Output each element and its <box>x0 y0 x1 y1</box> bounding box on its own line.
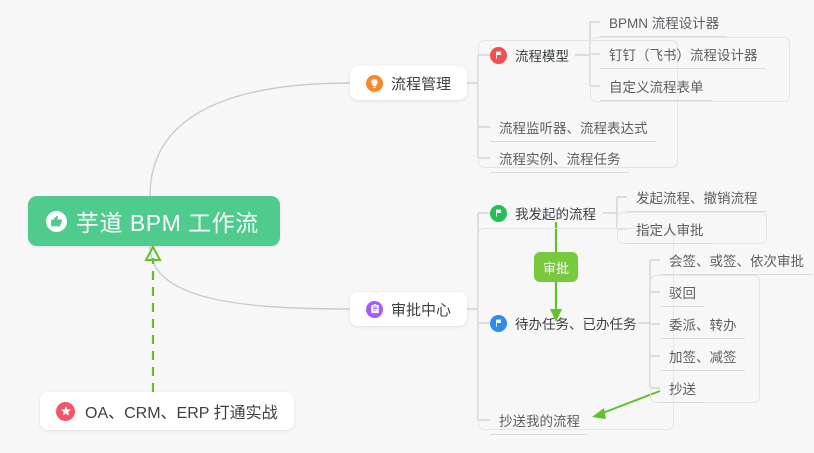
link-root-approval-center <box>150 246 350 309</box>
node-bpmn-designer[interactable]: BPMN 流程设计器 <box>600 8 727 37</box>
mindmap-canvas: 芋道 BPM 工作流 流程管理 流程模型 BPMN 流程设计器 钉钉（飞书）流程… <box>0 0 814 453</box>
node-delegate-label: 委派、转办 <box>669 314 737 334</box>
flag-icon-green <box>490 205 507 222</box>
bottom-note-label: OA、CRM、ERP 打通实战 <box>85 399 278 423</box>
node-todo-done[interactable]: 待办任务、已办任务 <box>490 309 637 337</box>
approval-tag[interactable]: 审批 <box>534 252 578 282</box>
approval-tag-label: 审批 <box>543 258 569 277</box>
arrow-bottom-note-head <box>146 247 160 260</box>
node-process-listener[interactable]: 流程监听器、流程表达式 <box>490 113 656 142</box>
node-start-cancel-label: 发起流程、撤销流程 <box>636 187 758 207</box>
node-delegate[interactable]: 委派、转办 <box>660 310 745 339</box>
node-cc-to-me[interactable]: 抄送我的流程 <box>490 406 588 435</box>
star-icon <box>56 402 75 421</box>
link-root-process-management <box>150 83 350 196</box>
node-custom-form-label: 自定义流程表单 <box>609 76 704 96</box>
root-label: 芋道 BPM 工作流 <box>76 204 259 238</box>
flag-icon-red <box>490 47 507 64</box>
node-assignee-approval-label: 指定人审批 <box>636 219 704 239</box>
branch-approval-center-label: 审批中心 <box>391 299 451 320</box>
root-node[interactable]: 芋道 BPM 工作流 <box>28 196 280 246</box>
node-process-model[interactable]: 流程模型 <box>490 41 569 69</box>
node-my-started[interactable]: 我发起的流程 <box>490 199 596 227</box>
bottom-note[interactable]: OA、CRM、ERP 打通实战 <box>40 392 294 430</box>
node-countersign[interactable]: 会签、或签、依次审批 <box>660 246 812 275</box>
node-todo-done-label: 待办任务、已办任务 <box>515 313 637 333</box>
node-assignee-approval[interactable]: 指定人审批 <box>627 215 712 244</box>
node-process-listener-label: 流程监听器、流程表达式 <box>499 117 648 137</box>
node-reject-label: 驳回 <box>669 282 696 302</box>
flag-icon-blue <box>490 315 507 332</box>
node-cc-to-me-label: 抄送我的流程 <box>499 410 580 430</box>
node-reject[interactable]: 驳回 <box>660 278 704 307</box>
node-countersign-label: 会签、或签、依次审批 <box>669 250 804 270</box>
node-cc-label: 抄送 <box>669 378 696 398</box>
branch-approval-center[interactable]: 审批中心 <box>350 292 467 326</box>
thumbs-up-icon <box>46 211 67 232</box>
node-cc[interactable]: 抄送 <box>660 374 704 403</box>
node-start-cancel[interactable]: 发起流程、撤销流程 <box>627 183 766 212</box>
branch-process-management[interactable]: 流程管理 <box>350 66 467 100</box>
node-add-remove-sign[interactable]: 加签、减签 <box>660 342 745 371</box>
node-add-remove-sign-label: 加签、减签 <box>669 346 737 366</box>
node-my-started-label: 我发起的流程 <box>515 203 596 223</box>
node-custom-form[interactable]: 自定义流程表单 <box>600 72 712 101</box>
node-dingtalk-designer-label: 钉钉（飞书）流程设计器 <box>609 44 758 64</box>
lightbulb-icon <box>366 75 383 92</box>
node-process-instance-label: 流程实例、流程任务 <box>499 148 621 168</box>
node-bpmn-designer-label: BPMN 流程设计器 <box>609 12 719 32</box>
node-dingtalk-designer[interactable]: 钉钉（飞书）流程设计器 <box>600 40 766 69</box>
branch-process-management-label: 流程管理 <box>391 73 451 94</box>
node-process-instance[interactable]: 流程实例、流程任务 <box>490 144 629 173</box>
node-process-model-label: 流程模型 <box>515 45 569 65</box>
clipboard-icon <box>366 301 383 318</box>
